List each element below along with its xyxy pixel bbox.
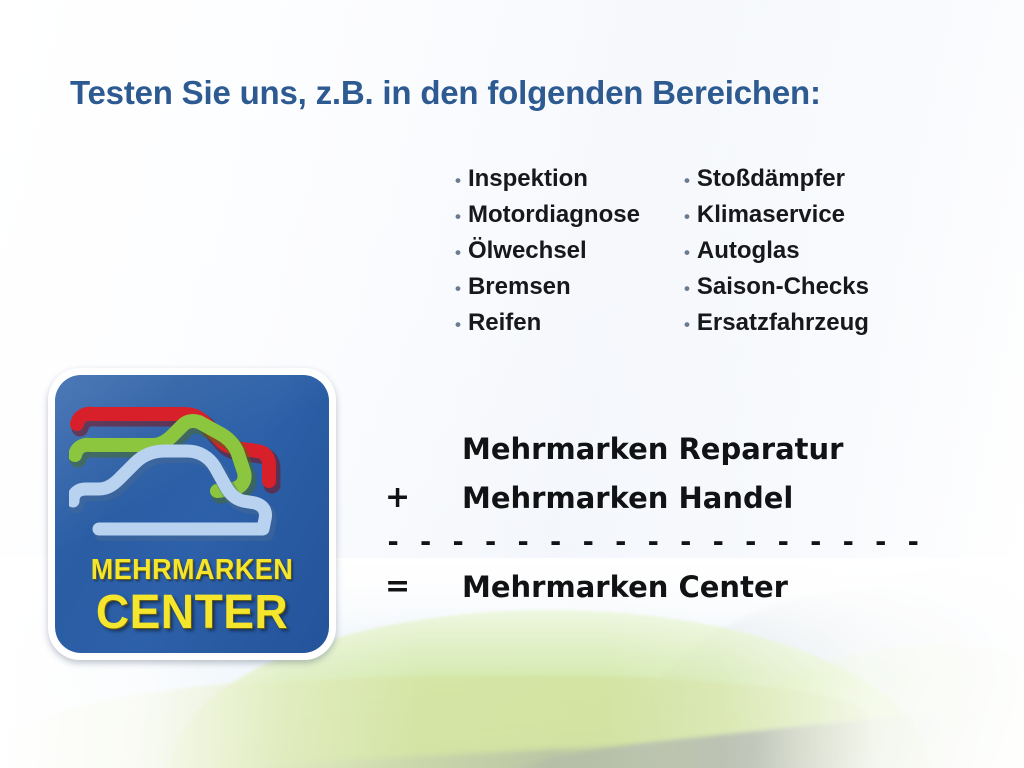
service-label: Bremsen — [468, 270, 571, 304]
list-item: • Stoßdämpfer — [684, 162, 869, 198]
car-outlines-group — [69, 389, 319, 549]
bullet-icon: • — [684, 164, 690, 198]
list-item: • Motordiagnose — [455, 198, 640, 234]
list-item: • Klimaservice — [684, 198, 869, 234]
equation-operator-plus: + — [385, 480, 462, 515]
page-title: Testen Sie uns, z.B. in den folgenden Be… — [70, 74, 821, 112]
bullet-icon: • — [455, 236, 461, 270]
bullet-icon: • — [684, 308, 690, 342]
equation-row-2: + Mehrmarken Handel — [385, 473, 925, 522]
service-label: Reifen — [468, 306, 541, 340]
list-item: • Bremsen — [455, 270, 640, 306]
list-item: • Reifen — [455, 306, 640, 342]
equation-divider-rule: - - - - - - - - - - - - - - - - - - - - … — [385, 528, 925, 562]
list-item: • Saison-Checks — [684, 270, 869, 306]
list-item: • Ersatzfahrzeug — [684, 306, 869, 342]
equation-block: Mehrmarken Reparatur + Mehrmarken Handel… — [385, 424, 925, 611]
bullet-icon: • — [455, 200, 461, 234]
equation-result-row: = Mehrmarken Center — [385, 562, 925, 611]
list-item: • Ölwechsel — [455, 234, 640, 270]
service-label: Saison-Checks — [697, 270, 869, 304]
bullet-icon: • — [684, 272, 690, 306]
bullet-icon: • — [455, 272, 461, 306]
bullet-icon: • — [684, 236, 690, 270]
equation-operator-equals: = — [385, 569, 462, 604]
logo-panel: MEHRMARKEN CENTER — [55, 375, 329, 653]
service-label: Klimaservice — [697, 198, 845, 232]
service-label: Inspektion — [468, 162, 588, 196]
service-label: Stoßdämpfer — [697, 162, 845, 196]
logo-line-center: CENTER — [60, 589, 323, 637]
services-list: • Inspektion • Motordiagnose • Ölwechsel… — [455, 162, 869, 342]
equation-term: Mehrmarken Reparatur — [462, 432, 844, 466]
service-label: Motordiagnose — [468, 198, 640, 232]
logo-wordmark: MEHRMARKEN CENTER — [55, 556, 329, 637]
slide-canvas: Testen Sie uns, z.B. in den folgenden Be… — [0, 0, 1024, 768]
service-label: Autoglas — [697, 234, 800, 268]
bullet-icon: • — [455, 164, 461, 198]
bullet-icon: • — [684, 200, 690, 234]
mehrmarken-center-logo: MEHRMARKEN CENTER — [48, 368, 336, 660]
services-column-left: • Inspektion • Motordiagnose • Ölwechsel… — [455, 162, 640, 342]
equation-term: Mehrmarken Handel — [462, 481, 793, 515]
list-item: • Autoglas — [684, 234, 869, 270]
service-label: Ersatzfahrzeug — [697, 306, 869, 340]
service-label: Ölwechsel — [468, 234, 587, 268]
bullet-icon: • — [455, 308, 461, 342]
list-item: • Inspektion — [455, 162, 640, 198]
services-column-right: • Stoßdämpfer • Klimaservice • Autoglas … — [684, 162, 869, 342]
equation-result-term: Mehrmarken Center — [462, 570, 788, 604]
equation-row-1: Mehrmarken Reparatur — [385, 424, 925, 473]
logo-line-mehrmarken: MEHRMARKEN — [65, 556, 320, 585]
